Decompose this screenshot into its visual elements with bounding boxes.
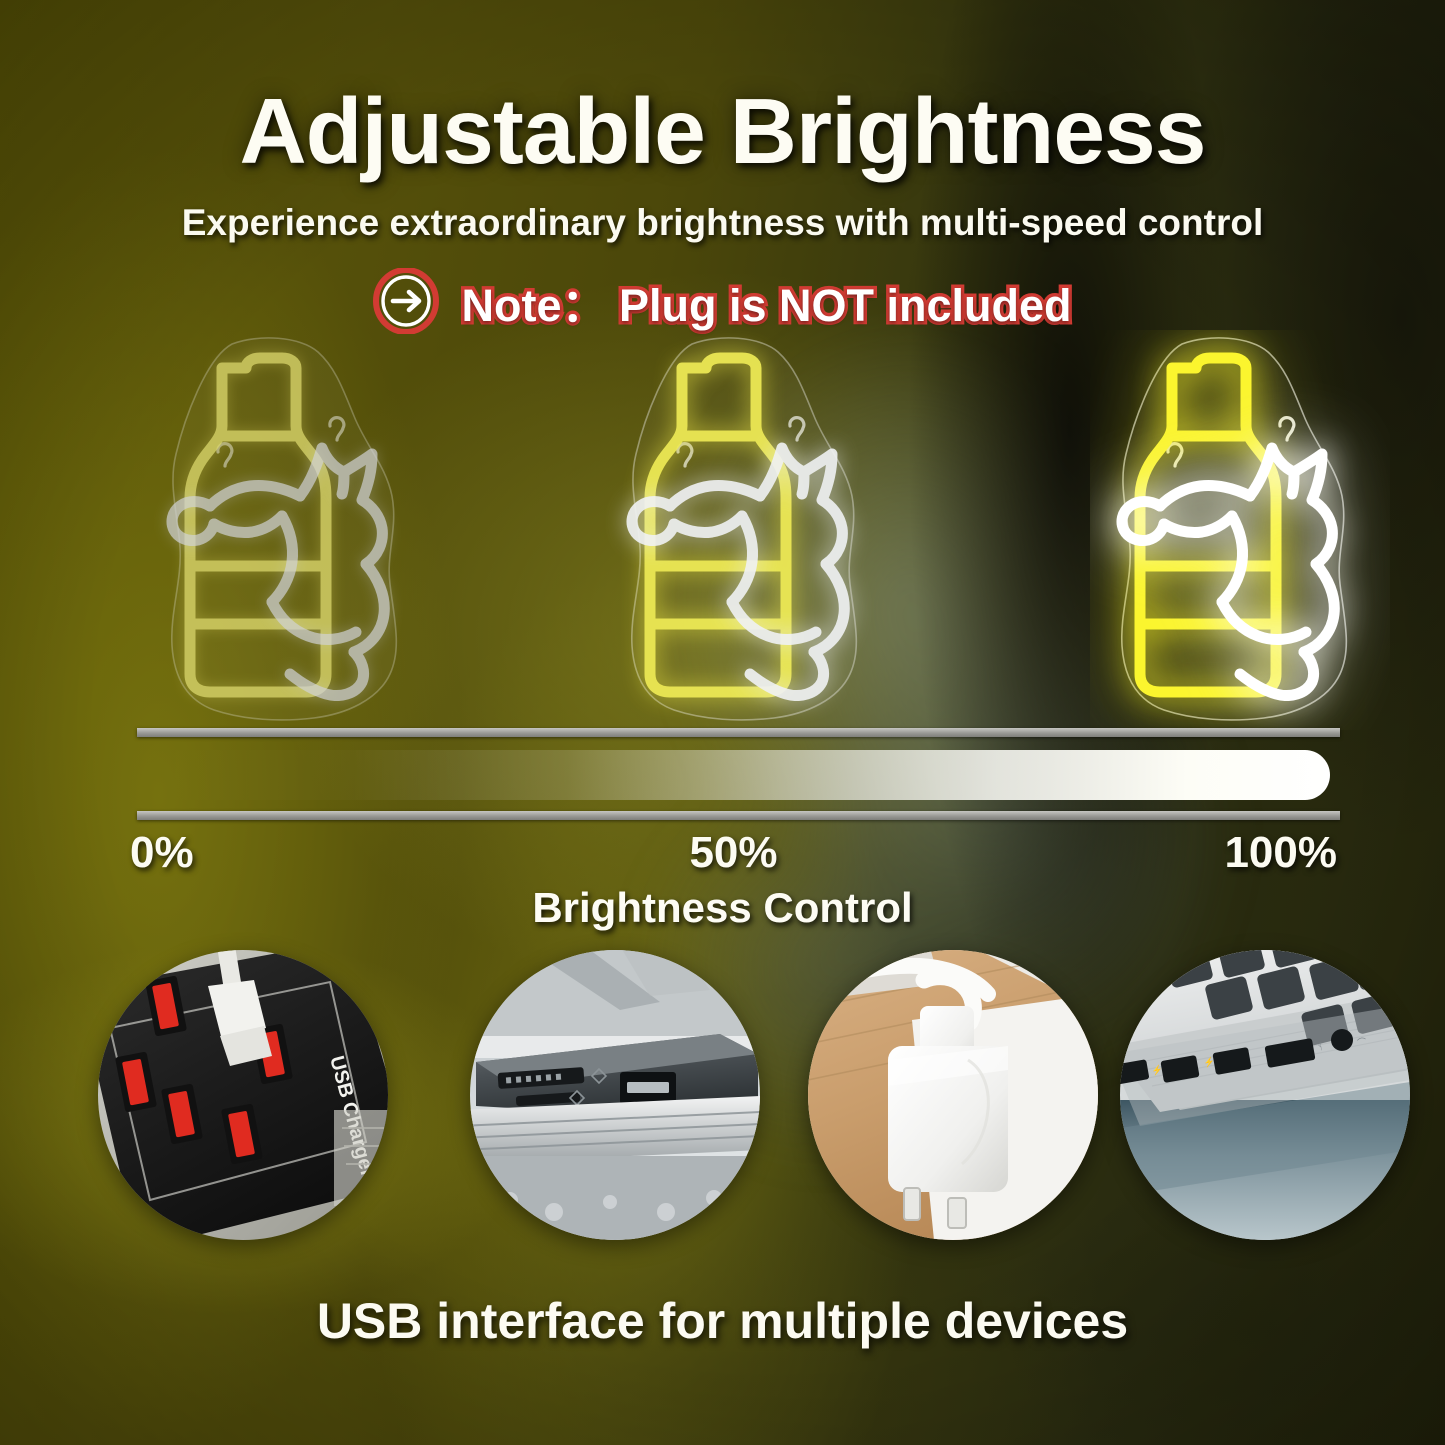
circled-right-arrow-icon [373,268,439,334]
svg-text:⌒: ⌒ [1357,1037,1368,1048]
slider-rail-top [137,728,1340,737]
neon-sign-medium [600,330,900,730]
tick-label-0: 0% [130,828,194,878]
neon-sign-row [0,330,1445,730]
tick-label-50: 50% [689,828,777,878]
photo-usb-charger-hub: USB Charger [98,950,388,1240]
photo-strip: USB Charger [0,950,1445,1240]
brightness-slider[interactable] [137,728,1340,820]
footer-caption: USB interface for multiple devices [0,1292,1445,1350]
page-subtitle: Experience extraordinary brightness with… [0,202,1445,244]
brightness-control-caption: Brightness Control [0,884,1445,932]
tick-label-100: 100% [1224,828,1337,878]
note-banner: Note： Plug is NOT included [0,268,1445,334]
neon-sign-low [140,330,440,730]
photo-power-bank [470,950,760,1240]
slider-fill[interactable] [137,750,1330,800]
slider-tick-labels: 0% 50% 100% [130,828,1337,882]
photo-wall-adapter [808,950,1098,1240]
note-text: Note： Plug is NOT included [461,269,1071,334]
photo-laptop-ports: ⚡ ⚡ ᛩ ⌒ [1120,950,1410,1240]
product-infographic: Adjustable Brightness Experience extraor… [0,0,1445,1445]
neon-sign-high [1090,330,1390,730]
slider-rail-bottom [137,811,1340,820]
page-title: Adjustable Brightness [0,78,1445,185]
